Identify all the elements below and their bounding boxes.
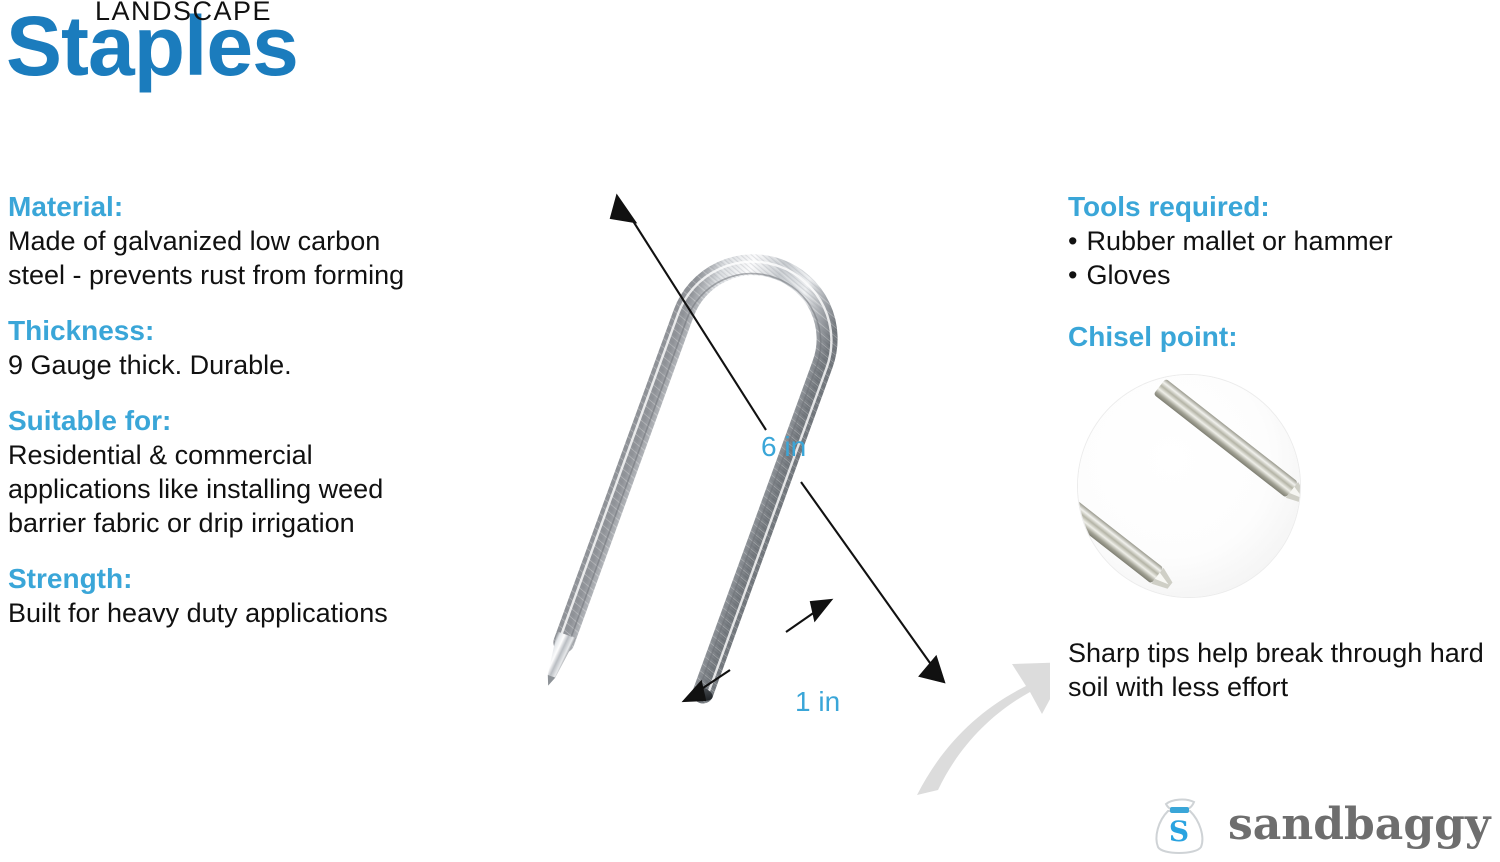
callout-arrow-icon	[917, 662, 1050, 795]
feature-body: Built for heavy duty applications	[8, 596, 428, 630]
feature-heading: Tools required:	[1068, 190, 1498, 223]
feature-strength: Strength: Built for heavy duty applicati…	[8, 562, 428, 630]
sandbag-icon: S	[1148, 795, 1212, 862]
feature-thickness: Thickness: 9 Gauge thick. Durable.	[8, 314, 428, 382]
spacer	[1068, 292, 1498, 320]
tools-list: Rubber mallet or hammer Gloves	[1068, 224, 1498, 292]
brand-wordmark: sandbaggy	[1228, 803, 1490, 847]
feature-heading: Material:	[8, 190, 428, 223]
feature-suitable-for: Suitable for: Residential & commercial a…	[8, 404, 428, 540]
feature-chisel-point: Chisel point:	[1068, 320, 1498, 353]
feature-heading: Chisel point:	[1068, 320, 1498, 353]
title-block: Staples LANDSCAPE	[0, 0, 420, 120]
right-feature-column: Tools required: Rubber mallet or hammer …	[1068, 190, 1498, 354]
dimension-label-width: 1 in	[795, 688, 840, 716]
feature-heading: Thickness:	[8, 314, 428, 347]
staple-illustration	[430, 170, 1050, 810]
feature-body: 9 Gauge thick. Durable.	[8, 348, 428, 382]
page-title-eyebrow: LANDSCAPE	[95, 0, 272, 25]
chisel-point-caption: Sharp tips help break through hard soil …	[1068, 636, 1500, 704]
infographic-canvas: Staples LANDSCAPE Material: Made of galv…	[0, 0, 1500, 861]
list-item: Rubber mallet or hammer	[1068, 224, 1498, 258]
sandbag-icon-letter: S	[1169, 815, 1189, 848]
feature-body: Made of galvanized low carbon steel - pr…	[8, 224, 428, 292]
dimension-label-length: 6 in	[761, 433, 806, 461]
feature-material: Material: Made of galvanized low carbon …	[8, 190, 428, 292]
feature-heading: Suitable for:	[8, 404, 428, 437]
feature-tools-required: Tools required: Rubber mallet or hammer …	[1068, 190, 1498, 292]
feature-body: Residential & commercial applications li…	[8, 438, 428, 540]
brand-logo: S sandbaggy	[1148, 795, 1493, 857]
left-feature-column: Material: Made of galvanized low carbon …	[8, 190, 428, 630]
feature-heading: Strength:	[8, 562, 428, 595]
chisel-point-magnifier	[1078, 375, 1300, 597]
list-item: Gloves	[1068, 258, 1498, 292]
